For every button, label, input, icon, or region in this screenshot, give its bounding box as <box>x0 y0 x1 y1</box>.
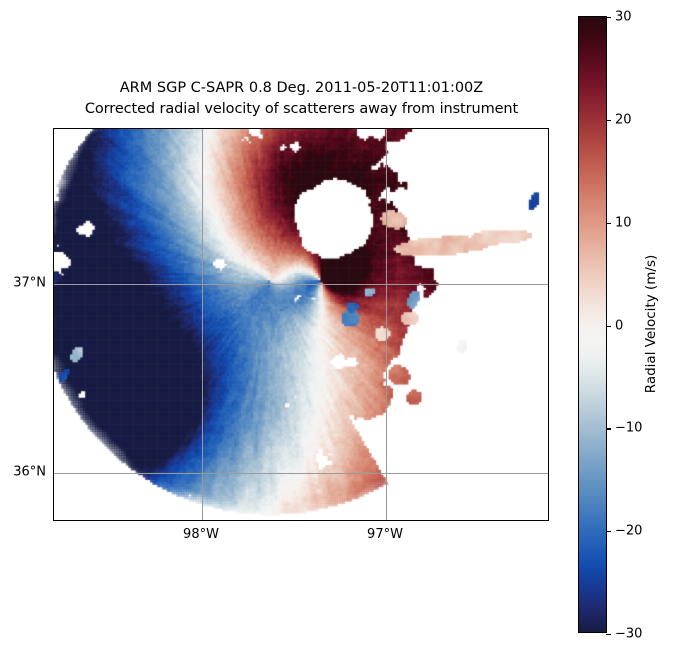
xtick-98W <box>202 520 203 521</box>
colorbar-tick-6 <box>606 634 611 635</box>
ytick-36N <box>53 473 54 474</box>
xtick-label-98W: 98°W <box>183 527 219 542</box>
ytick-label-37N: 37°N <box>0 276 53 291</box>
gridline-37N <box>54 284 548 285</box>
ytick-label-36N: 36°N <box>0 465 53 480</box>
xtick-97W <box>386 520 387 521</box>
plot-title-block: ARM SGP C-SAPR 0.8 Deg. 2011-05-20T11:01… <box>53 78 550 120</box>
colorbar-tick-label-0: 30 <box>615 10 632 25</box>
plot-title-line-2: Corrected radial velocity of scatterers … <box>53 99 550 120</box>
colorbar-tick-0 <box>606 17 611 18</box>
colorbar-tick-1 <box>606 120 611 121</box>
radar-plot-axes[interactable] <box>53 128 549 521</box>
colorbar-tick-5 <box>606 531 611 532</box>
colorbar-tick-4 <box>606 428 611 429</box>
colorbar-tick-3 <box>606 326 611 327</box>
colorbar-tick-label-4: −10 <box>615 421 642 436</box>
colorbar-tick-label-6: −30 <box>615 627 642 642</box>
colorbar-tick-label-1: 20 <box>615 112 632 127</box>
colorbar-axis-label: Radial Velocity (m/s) <box>643 255 659 394</box>
figure-canvas: ARM SGP C-SAPR 0.8 Deg. 2011-05-20T11:01… <box>0 0 678 649</box>
gridline-36N <box>54 473 548 474</box>
ytick-37N <box>53 284 54 285</box>
gridline-98W <box>202 129 203 520</box>
radar-ppi-image <box>54 129 549 521</box>
colorbar-tick-label-3: 0 <box>615 318 623 333</box>
plot-title-line-1: ARM SGP C-SAPR 0.8 Deg. 2011-05-20T11:01… <box>53 78 550 99</box>
colorbar-gradient <box>579 17 606 632</box>
xtick-label-97W: 97°W <box>367 527 403 542</box>
gridline-97W <box>386 129 387 520</box>
colorbar-tick-label-5: −20 <box>615 524 642 539</box>
colorbar[interactable]: 3020100−10−20−30 <box>578 16 607 633</box>
colorbar-tick-label-2: 10 <box>615 215 632 230</box>
colorbar-tick-2 <box>606 223 611 224</box>
